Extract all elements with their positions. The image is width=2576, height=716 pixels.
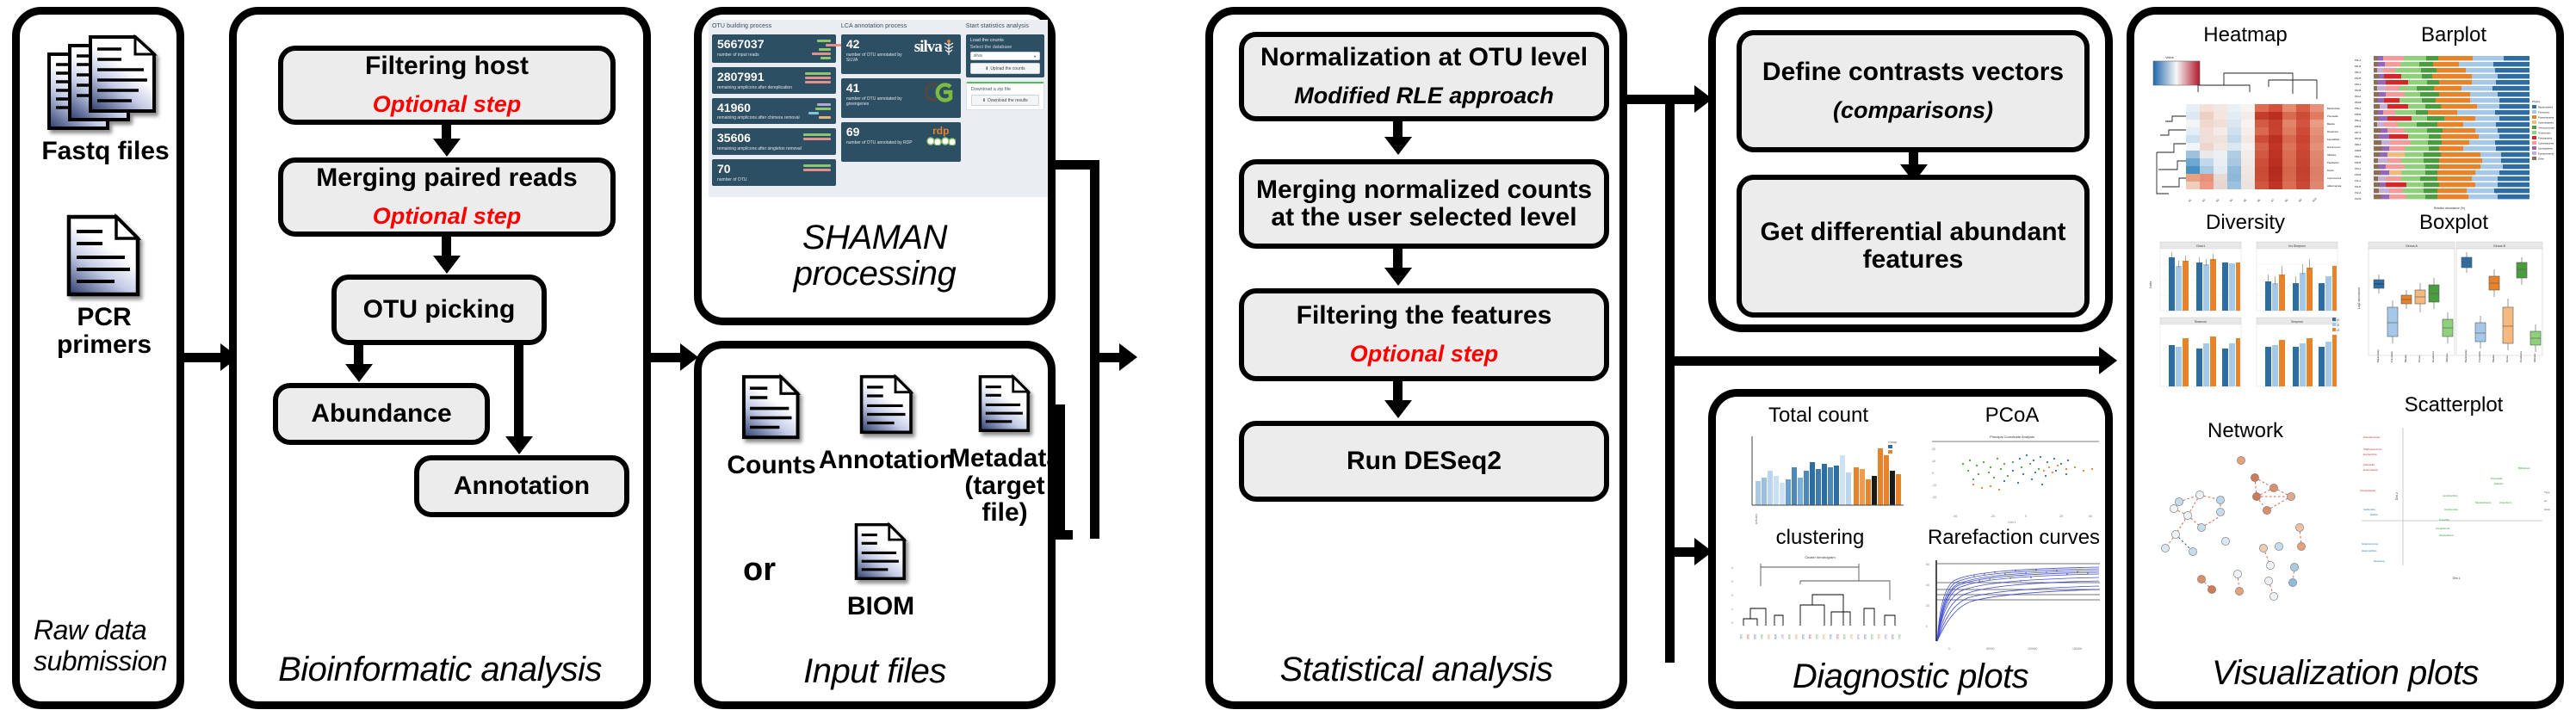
arrow-filter-to-deseq-head	[1384, 400, 1412, 418]
svg-text:150000: 150000	[2072, 647, 2082, 651]
svg-text:Enterobacter: Enterobacter	[2363, 468, 2378, 472]
svg-text:3: 3	[1731, 580, 1733, 583]
arrow-filtering-to-merging-head	[433, 139, 461, 157]
svg-text:Atopobium: Atopobium	[2499, 501, 2512, 504]
svg-text:0: 0	[1731, 621, 1733, 625]
svg-text:60: 60	[1926, 563, 1929, 566]
shaman-otu-column: OTU building process 5667037 number of i…	[712, 23, 836, 197]
svg-text:Dim 1: Dim 1	[2453, 577, 2461, 580]
svg-text:Log2 abundance: Log2 abundance	[2357, 287, 2361, 309]
svg-text:S07: S07	[1780, 634, 1784, 639]
svg-text:Group: Group	[1888, 441, 1897, 444]
svg-text:-20: -20	[1932, 496, 1936, 499]
svg-text:P04-A: P04-A	[2355, 95, 2361, 98]
svg-text:100000: 100000	[2028, 647, 2037, 651]
svg-text:S1: S1	[2188, 198, 2193, 203]
shaman-stats-column: Start statistics analysis Load the count…	[966, 23, 1044, 197]
svg-text:Dialister: Dialister	[2494, 482, 2504, 485]
svg-text:Synergistetes: Synergistetes	[2538, 147, 2554, 151]
shaman-screenshot[interactable]: OTU building process 5667037 number of i…	[709, 20, 1048, 197]
svg-text:Simpson: Simpson	[2291, 320, 2303, 324]
svg-text:Proteobacteria: Proteobacteria	[2538, 116, 2554, 120]
shaman-otu-header: OTU building process	[712, 23, 836, 29]
arrow-stat-to-visualization-line	[1665, 356, 2104, 366]
shaman-load-counts-panel: Load the counts Select the database silv…	[966, 34, 1044, 77]
svg-text:Prevotella: Prevotella	[2390, 351, 2393, 362]
svg-text:Value: Value	[2165, 55, 2175, 59]
shaman-database-value: silva	[974, 53, 982, 59]
svg-text:Index: Index	[2149, 281, 2152, 288]
step-merging-paired-reads[interactable]: Merging paired reads Optional step	[278, 157, 616, 237]
shaman-stat-card[interactable]: 69 number of OTU annotated by RDP rdp	[841, 122, 961, 162]
step-abundance-title: Abundance	[311, 400, 451, 428]
input-file-annotation: Annotation	[822, 367, 951, 474]
step-merging-normalized-counts[interactable]: Merging normalized counts at the user se…	[1239, 159, 1609, 249]
svg-text:S01: S01	[1739, 634, 1743, 639]
input-file-counts-label: Counts	[727, 452, 815, 479]
plot-network[interactable]: Network	[2146, 419, 2344, 608]
input-file-metadata-label: Metadata (target file)	[949, 445, 1061, 527]
svg-text:P02-A: P02-A	[2355, 71, 2361, 74]
arrow-otu-to-annotation-line	[514, 345, 523, 441]
sparkline-icon	[805, 71, 831, 83]
document-icon	[858, 367, 915, 441]
svg-text:Sneathia: Sneathia	[2439, 518, 2449, 522]
svg-text:Type: Type	[2544, 491, 2550, 494]
svg-text:P06-A: P06-A	[2355, 119, 2361, 122]
total-count-bar-chart: sample Group	[1730, 429, 1907, 524]
svg-text:S17: S17	[1849, 634, 1853, 639]
svg-text:sample: sample	[1755, 514, 1759, 524]
svg-text:S3: S3	[2215, 198, 2220, 203]
svg-text:S10: S10	[1801, 634, 1805, 639]
shaman-load-counts-title: Load the counts	[970, 38, 1040, 43]
arrow-otu-to-annotation-head	[505, 436, 533, 454]
svg-text:Prevotella: Prevotella	[2478, 351, 2481, 362]
fastq-files-label: Fastq files	[41, 138, 169, 165]
shaman-stat-value: 35606	[717, 132, 802, 145]
plot-clustering-title: clustering	[1776, 526, 1865, 550]
svg-text:1: 1	[1731, 608, 1733, 611]
boxplot-chart: Genus A Genus B	[2353, 237, 2554, 388]
plot-clustering[interactable]: clustering Cluster dendrogram	[1728, 526, 1912, 657]
stat-to-trunk-link	[1627, 95, 1670, 104]
sparkline-icon	[803, 163, 831, 171]
metadata-label-line2: (target file)	[964, 472, 1044, 528]
svg-text:Bacteroidetes: Bacteroidetes	[2538, 106, 2554, 109]
svg-text:Firmicutes: Firmicutes	[2538, 111, 2549, 114]
svg-text:Bifidobact.: Bifidobact.	[2518, 466, 2530, 470]
rarefaction-line-chart: 6040200 050000100000150000	[1923, 552, 2105, 655]
pcr-label-line2: primers	[57, 330, 152, 359]
shaman-stat-label: number of OTU annotated by greengenes	[846, 96, 925, 107]
svg-text:Shannon: Shannon	[2195, 320, 2207, 324]
svg-text:P11-A: P11-A	[2355, 179, 2361, 182]
shaman-download-panel: Download a zip file ⬇ Download the resul…	[966, 82, 1044, 110]
shaman-stat-value: 5667037	[717, 38, 765, 51]
svg-text:S16: S16	[1842, 634, 1846, 639]
svg-text:S05: S05	[1767, 634, 1770, 639]
input-file-biom-label: BIOM	[847, 593, 914, 620]
shaman-upload-label: Upload the counts	[990, 66, 1025, 71]
svg-text:P11-B: P11-B	[2355, 185, 2361, 188]
svg-text:Tenericutes: Tenericutes	[2538, 132, 2551, 135]
svg-text:S03: S03	[1753, 634, 1756, 639]
shaman-caption-line1: SHAMAN	[802, 219, 947, 256]
svg-text:40: 40	[2089, 515, 2092, 518]
svg-text:Blautia: Blautia	[2404, 355, 2407, 362]
shaman-lca-column: LCA annotation process 42 number of OTU …	[841, 23, 961, 197]
step-filtering-host[interactable]: Filtering host Optional step	[278, 46, 616, 125]
svg-text:S22: S22	[1884, 634, 1887, 639]
shaman-stat-value: 41960	[717, 102, 800, 114]
svg-text:Blautia: Blautia	[2492, 355, 2495, 362]
svg-text:Gardnerella: Gardnerella	[2444, 508, 2458, 511]
sparkline-icon	[808, 102, 831, 119]
svg-text:S04: S04	[1760, 634, 1763, 639]
svg-text:Acinetobacter: Acinetobacter	[2360, 489, 2375, 492]
step-otu-picking-title: OTU picking	[363, 296, 516, 324]
shaman-download-label: Download a zip file	[971, 87, 1039, 92]
svg-text:50000: 50000	[1986, 647, 1995, 651]
step-define-contrasts[interactable]: Define contrasts vectors (comparisons)	[1737, 30, 2090, 152]
shaman-stats-header: Start statistics analysis	[966, 23, 1044, 29]
step-filtering-features-note: Optional step	[1350, 342, 1499, 367]
svg-text:Mycoplasma: Mycoplasma	[2439, 534, 2454, 537]
svg-text:Prevotella: Prevotella	[2327, 114, 2338, 118]
svg-text:P07-B: P07-B	[2355, 137, 2361, 140]
svg-text:Coprococcus: Coprococcus	[2327, 176, 2342, 180]
step-abundance[interactable]: Abundance	[273, 383, 490, 445]
step-define-contrasts-note: (comparisons)	[1833, 98, 1993, 124]
svg-text:Relative abundance (%): Relative abundance (%)	[2434, 207, 2465, 210]
plot-scatterplot-title: Scatterplot	[2405, 393, 2504, 417]
input-file-metadata: Metadata (target file)	[953, 367, 1056, 527]
scatterplot-chart: Pseudomonas Staphylococcus Escherichia K…	[2353, 419, 2554, 591]
svg-text:Ruminococc.: Ruminococc.	[2327, 145, 2341, 149]
input-file-annotation-label: Annotation	[819, 447, 955, 474]
step-otu-picking[interactable]: OTU picking	[331, 275, 547, 345]
input-file-biom: BIOM	[829, 515, 932, 620]
shaman-stat-card[interactable]: 70 number of OTU	[712, 159, 836, 186]
svg-text:Principal Coordinate Analysis: Principal Coordinate Analysis	[1990, 435, 2034, 439]
step-annotation[interactable]: Annotation	[414, 455, 629, 517]
step-get-features-title: Get differential abundant features	[1760, 219, 2065, 275]
metadata-label-line1: Metadata	[949, 444, 1061, 472]
download-icon: ⬇	[982, 98, 986, 103]
svg-text:Roseburia: Roseburia	[2327, 130, 2338, 133]
arrow-norm-to-merge-head	[1384, 137, 1412, 155]
step-merging-counts-title: Merging normalized counts at the user se…	[1256, 176, 1592, 232]
shaman-stat-card[interactable]: 42 number of OTU annotated by SILVA silv…	[841, 34, 961, 74]
svg-text:Alistipes: Alistipes	[2533, 353, 2536, 362]
greengenes-logo-icon	[925, 82, 956, 102]
svg-text:S8: S8	[2284, 198, 2289, 203]
svg-text:S24: S24	[1898, 634, 1901, 639]
input-files-or-label: or	[743, 552, 776, 589]
svg-text:Klebsiella: Klebsiella	[2363, 463, 2375, 466]
shaman-stat-label: remaining amplicons after chimera remova…	[717, 115, 800, 120]
step-filtering-features-title: Filtering the features	[1297, 302, 1552, 330]
svg-text:4: 4	[1731, 566, 1733, 570]
raw-data-caption-line1: Raw data	[34, 614, 146, 645]
svg-text:Dorea: Dorea	[2327, 169, 2334, 172]
plot-pcoa-title: PCoA	[1985, 404, 2040, 428]
shaman-select-db-label: Select the database	[970, 45, 1040, 50]
panel-input-files: Counts Annotation	[694, 341, 1056, 709]
svg-text:P01-B: P01-B	[2355, 65, 2361, 68]
svg-text:P05-B: P05-B	[2355, 113, 2361, 116]
svg-text:Actinobacteria: Actinobacteria	[2538, 121, 2554, 125]
svg-text:P12-B: P12-B	[2355, 197, 2361, 201]
svg-text:P09-B: P09-B	[2355, 161, 2361, 164]
pcr-label-line1: PCR	[77, 303, 131, 331]
shaman-stat-label: number of input reads	[717, 52, 765, 58]
svg-text:Akkermansia: Akkermansia	[2327, 184, 2342, 188]
svg-text:Other: Other	[2538, 157, 2544, 161]
step-annotation-title: Annotation	[454, 472, 590, 500]
svg-text:P07-A: P07-A	[2355, 131, 2361, 134]
panel-contrasts: Define contrasts vectors (comparisons) G…	[1708, 7, 2113, 332]
workflow-diagram: Fastq files	[0, 0, 2576, 716]
plot-barplot-title: Barplot	[2421, 23, 2486, 47]
svg-text:Staphylococcus: Staphylococcus	[2363, 447, 2382, 451]
panel-shaman-processing: OTU building process 5667037 number of i…	[694, 7, 1056, 325]
sparkline-icon	[803, 132, 831, 140]
step-run-deseq2[interactable]: Run DESeq2	[1239, 421, 1609, 502]
svg-text:-10: -10	[1932, 484, 1936, 487]
stat-output-trunk	[1665, 95, 1675, 663]
step-filtering-host-title: Filtering host	[365, 52, 529, 80]
svg-text:P05-A: P05-A	[2355, 107, 2361, 110]
silva-logo-icon: silva	[914, 38, 956, 57]
plot-boxplot[interactable]: Boxplot Genus A Genus B	[2351, 211, 2556, 388]
svg-text:S2: S2	[2201, 198, 2207, 203]
stacked-barplot-chart: P01-AP01-BP02-AP02-B P03-AP03-BP04-AP04-…	[2353, 49, 2554, 221]
svg-text:Alistipes: Alistipes	[2327, 153, 2337, 157]
svg-text:Cluster dendrogram: Cluster dendrogram	[1805, 555, 1836, 559]
plot-total-count[interactable]: Total count	[1728, 404, 1909, 524]
svg-text:S5: S5	[2243, 198, 2248, 203]
svg-text:Cyanobacteria: Cyanobacteria	[2538, 142, 2554, 145]
panel-bioinformatic-analysis: Filtering host Optional step Merging pai…	[229, 7, 651, 709]
step-normalization-title: Normalization at OTU level	[1260, 44, 1588, 71]
panel-caption-statistical: Statistical analysis	[1213, 651, 1619, 689]
svg-text:Parabacter.: Parabacter.	[2327, 161, 2340, 164]
svg-text:Escherichia: Escherichia	[2363, 453, 2377, 456]
svg-text:P08-A: P08-A	[2355, 143, 2361, 146]
arrow-merging-to-otu-head	[433, 256, 461, 274]
plot-barplot[interactable]: Barplot P01-AP01-BP02-AP02-B P03-AP03-BP…	[2351, 23, 2556, 221]
svg-text:up: up	[2544, 499, 2548, 503]
plot-heatmap[interactable]: Heatmap Value	[2146, 23, 2344, 221]
svg-text:Veillonella: Veillonella	[2363, 508, 2375, 511]
plot-pcoa[interactable]: PCoA Principal Coordinate Analysis	[1917, 404, 2107, 526]
svg-text:P09-A: P09-A	[2355, 155, 2361, 158]
svg-text:40: 40	[1926, 583, 1929, 587]
pcoa-scatter-chart: Principal Coordinate Analysis	[1918, 429, 2106, 526]
svg-text:10: 10	[1932, 460, 1935, 463]
svg-text:S09: S09	[1794, 634, 1798, 639]
plot-network-title: Network	[2208, 419, 2283, 443]
svg-text:Roseburia: Roseburia	[2431, 351, 2435, 362]
shaman-download-button[interactable]: ⬇ Download the results	[971, 95, 1039, 106]
pcr-primers-label: PCR primers	[57, 304, 152, 358]
plot-diversity[interactable]: Diversity Chao1	[2146, 211, 2344, 388]
svg-text:S20: S20	[1870, 634, 1873, 639]
svg-text:S12: S12	[1815, 634, 1818, 639]
svg-text:Streptococcus: Streptococcus	[2362, 542, 2379, 546]
svg-text:Dim 1: Dim 1	[2008, 521, 2016, 524]
pcr-primers-item: PCR primers	[53, 213, 156, 358]
chevron-down-icon: ▼	[1033, 54, 1037, 59]
svg-text:P10-B: P10-B	[2355, 173, 2361, 176]
svg-text:Dim 2: Dim 2	[2395, 492, 2399, 500]
shaman-stat-value: 69	[846, 126, 913, 139]
svg-text:Inv.Simpson: Inv.Simpson	[2288, 244, 2306, 248]
svg-text:Verrucomicrobia: Verrucomicrobia	[2538, 127, 2554, 130]
svg-text:20: 20	[1926, 604, 1929, 608]
arrow-merge-to-filter-head	[1384, 268, 1412, 286]
shaman-stat-card[interactable]: 41 number of OTU annotated by greengenes	[841, 78, 961, 118]
fastq-files-item: Fastq files	[39, 34, 172, 165]
svg-text:Bacteroides: Bacteroides	[2327, 107, 2340, 110]
sparkline-icon	[812, 38, 831, 59]
svg-text:Dorea: Dorea	[2505, 355, 2509, 362]
shaman-stat-label: number of OTU annotated by RDP	[846, 140, 913, 145]
svg-text:Phylum: Phylum	[2532, 100, 2541, 103]
svg-text:P03-B: P03-B	[2355, 89, 2361, 92]
arrow-shaman-to-trunk	[1056, 160, 1095, 170]
svg-text:0: 0	[1926, 625, 1928, 628]
svg-text:S7: S7	[2270, 198, 2276, 203]
svg-text:P03-A: P03-A	[2355, 83, 2361, 86]
shaman-stat-card[interactable]: 35606 remaining amplicons after singleto…	[712, 128, 836, 155]
clustering-dendrogram: Cluster dendrogram S01	[1730, 552, 1910, 657]
shaman-stat-label: number of OTU annotated by SILVA	[846, 52, 914, 63]
shaman-stat-label: remaining amplicons after dereplication	[717, 85, 792, 90]
svg-text:Bacteroides: Bacteroides	[2376, 349, 2380, 362]
svg-text:Haemophilus: Haemophilus	[2362, 549, 2377, 552]
panel-caption-visualization: Visualization plots	[2134, 654, 2556, 693]
input-file-counts: Counts	[724, 367, 819, 479]
svg-text:P04-B: P04-B	[2355, 101, 2361, 104]
svg-text:S6: S6	[2257, 198, 2262, 203]
svg-text:S18: S18	[1856, 634, 1860, 639]
step-normalization-note: Modified RLE approach	[1294, 83, 1554, 109]
step-merging-note: Optional step	[373, 204, 522, 230]
plot-rarefaction[interactable]: Rarefaction curves	[1921, 526, 2107, 655]
arrow-stat-to-visualization-head	[2099, 347, 2117, 374]
network-graph	[2148, 445, 2343, 608]
svg-text:Neisseria: Neisseria	[2374, 559, 2385, 563]
step-normalization[interactable]: Normalization at OTU level Modified RLE …	[1239, 32, 1609, 121]
svg-text:20: 20	[1932, 447, 1935, 451]
shaman-stat-card[interactable]: 2807991 remaining amplicons after derepl…	[712, 67, 836, 94]
shaman-stat-value: 42	[846, 38, 914, 51]
shaman-stat-card[interactable]: 5667037 number of input reads	[712, 34, 836, 63]
panel-visualization-plots: Heatmap Value	[2127, 7, 2564, 709]
svg-text:Bacteroides: Bacteroides	[2464, 349, 2468, 362]
raw-data-caption-line2: submission	[34, 645, 167, 676]
shaman-caption-line2: processing	[794, 255, 956, 293]
svg-text:-40: -40	[1953, 515, 1957, 518]
svg-text:c3: c3	[2337, 328, 2340, 331]
svg-text:Blautia: Blautia	[2327, 122, 2335, 126]
svg-text:0: 0	[1932, 472, 1934, 475]
arrow-raw-to-bioinformatic-line	[184, 353, 222, 362]
panel-statistical-analysis: Normalization at OTU level Modified RLE …	[1205, 7, 1627, 709]
shaman-stat-value: 70	[717, 163, 746, 176]
plot-total-count-title: Total count	[1768, 404, 1868, 428]
plot-scatterplot[interactable]: Scatterplot Pseudomonas Staphylococcus E…	[2351, 393, 2556, 591]
panel-caption-diagnostic: Diagnostic plots	[1716, 657, 2105, 696]
shaman-upload-counts-button[interactable]: ⬇ Upload the counts	[970, 63, 1040, 74]
plot-boxplot-title: Boxplot	[2419, 211, 2488, 235]
document-icon	[977, 367, 1032, 440]
svg-text:Faecalibact.: Faecalibact.	[2327, 138, 2340, 141]
svg-text:Chao1: Chao1	[2196, 244, 2206, 248]
svg-text:S02: S02	[1746, 634, 1749, 639]
svg-text:Prevotella: Prevotella	[2491, 477, 2503, 480]
shaman-stat-card[interactable]: 41960 remaining amplicons after chimera …	[712, 98, 836, 125]
arrow-input-to-stat	[1056, 404, 1064, 414]
svg-text:P12-A: P12-A	[2355, 191, 2361, 194]
panel-caption-bioinformatic: Bioinformatic analysis	[237, 651, 643, 689]
svg-text:P01-A: P01-A	[2355, 59, 2361, 62]
svg-text:Genus A: Genus A	[2406, 244, 2418, 248]
svg-text:S23: S23	[1891, 634, 1894, 639]
plot-diversity-title: Diversity	[2206, 211, 2285, 235]
svg-text:S13: S13	[1822, 634, 1825, 639]
svg-text:S9: S9	[2298, 198, 2303, 203]
arrow-trunk-to-statistical-head	[1119, 343, 1137, 371]
svg-text:Ureaplasma: Ureaplasma	[2436, 527, 2450, 530]
upload-icon: ⬇	[985, 66, 988, 71]
document-icon	[740, 367, 802, 447]
svg-text:c1: c1	[2337, 318, 2340, 321]
svg-text:P06-B: P06-B	[2355, 125, 2361, 128]
svg-text:S11: S11	[1808, 634, 1811, 639]
svg-text:-20: -20	[1991, 515, 1995, 518]
step-define-contrasts-title: Define contrasts vectors	[1762, 59, 2064, 86]
svg-text:S15: S15	[1836, 634, 1839, 639]
svg-text:c2: c2	[2337, 323, 2340, 326]
shaman-database-select[interactable]: silva ▼	[970, 52, 1040, 60]
document-icon	[853, 515, 908, 588]
arrow-shaman-input-trunk	[1090, 160, 1099, 539]
panel-caption-input-files: Input files	[702, 652, 1048, 691]
document-icon	[65, 213, 144, 299]
svg-text:0: 0	[2025, 515, 2027, 518]
svg-text:Megasphaera: Megasphaera	[2475, 501, 2492, 504]
rdp-logo-icon: rdp	[926, 126, 956, 145]
shaman-lca-header: LCA annotation process	[841, 23, 961, 29]
svg-text:P08-B: P08-B	[2355, 149, 2361, 152]
shaman-stat-label: remaining amplicons after singleton remo…	[717, 146, 802, 151]
step-filtering-features[interactable]: Filtering the features Optional step	[1239, 288, 1609, 381]
step-get-differential-features[interactable]: Get differential abundant features	[1737, 175, 2090, 318]
panel-caption-raw-data: Raw data submission	[34, 615, 176, 677]
shaman-download-btn-label: Download the results	[988, 98, 1028, 103]
panel-raw-data-submission: Fastq files	[12, 7, 184, 709]
plot-heatmap-title: Heatmap	[2203, 23, 2287, 47]
svg-text:20: 20	[2059, 515, 2063, 518]
svg-text:P02-B: P02-B	[2355, 77, 2361, 80]
step-merging-title: Merging paired reads	[316, 164, 577, 192]
svg-text:Dorea: Dorea	[2418, 355, 2421, 362]
svg-text:Roseburia: Roseburia	[2519, 351, 2523, 362]
